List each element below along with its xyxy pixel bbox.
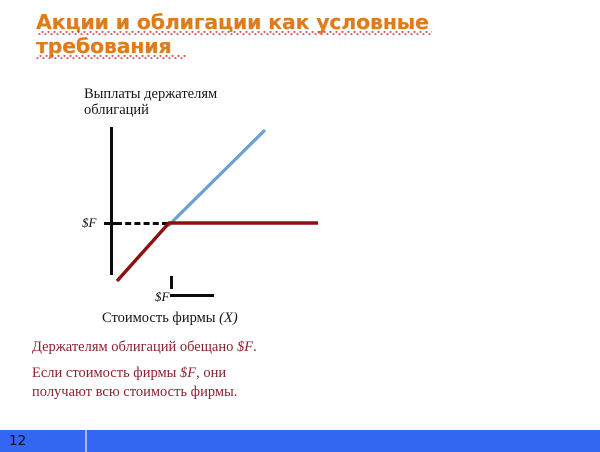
chart-x-axis (170, 294, 214, 297)
variable-face-value: $F (180, 365, 196, 381)
payoff-chart: Выплаты держателям облигаций $F $F Стоим… (60, 86, 320, 336)
body-line: Если стоимость фирмы $F, ониполучают всю… (32, 364, 362, 402)
chart-y-axis-label: Выплаты держателям облигаций (84, 86, 264, 118)
chart-x-axis-label-text: Стоимость фирмы (102, 310, 219, 326)
chart-x-tick-mark (170, 276, 173, 289)
spellcheck-underline-icon (38, 31, 432, 35)
footer-bar (0, 430, 600, 452)
slide-canvas: Акции и облигации как условные требовани… (0, 0, 600, 452)
chart-x-axis-label-variable: (X) (219, 310, 238, 326)
spellcheck-underline-icon (36, 55, 186, 59)
body-text-block: Держателям облигаций обещано $F. Если ст… (32, 338, 362, 409)
chart-x-axis-label: Стоимость фирмы (X) (102, 310, 332, 327)
slide-number: 12 (0, 430, 80, 452)
body-line: Держателям облигаций обещано $F. (32, 338, 362, 357)
bondholder-payoff-line (110, 126, 325, 286)
variable-face-value: $F (237, 339, 253, 355)
chart-x-tick-label: $F (155, 289, 169, 305)
footer-divider (85, 430, 87, 452)
chart-y-tick-label: $F (82, 215, 96, 231)
